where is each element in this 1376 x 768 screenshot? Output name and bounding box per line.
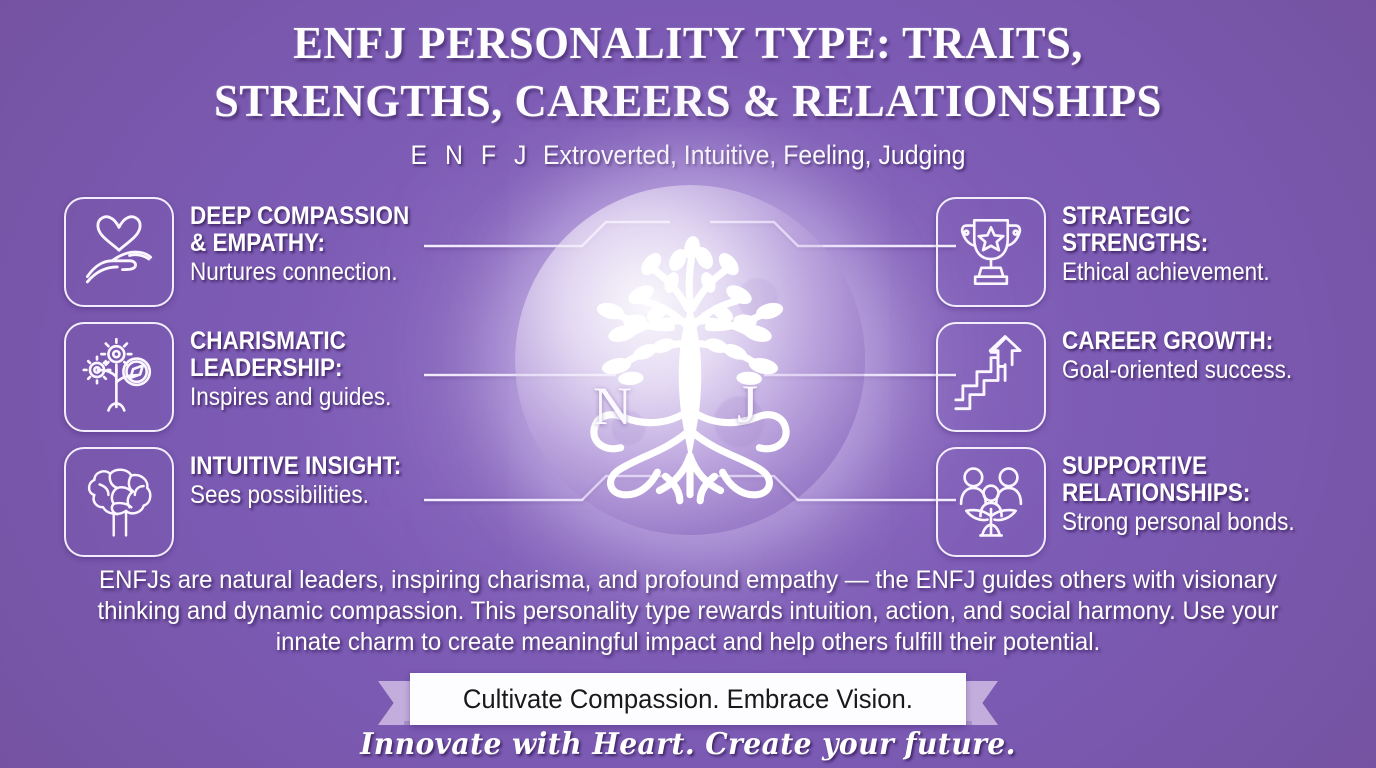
feature-career-growth[interactable]: CAREER GROWTH: Goal-oriented success.	[936, 322, 1318, 432]
feature-description: Goal-oriented success.	[1062, 356, 1292, 385]
type-expansion: Extroverted, Intuitive, Feeling, Judging	[543, 140, 966, 170]
brain-tree-icon	[64, 447, 174, 557]
gears-compass-tree-icon	[64, 322, 174, 432]
feature-description: Inspires and guides.	[190, 383, 391, 412]
tagline: Innovate with Heart. Create your future.	[41, 727, 1334, 762]
feature-heading: CHARISMATIC LEADERSHIP:	[190, 328, 391, 382]
ribbon-text: Cultivate Compassion. Embrace Vision.	[463, 684, 913, 715]
feature-heading: STRATEGIC STRENGTHS:	[1062, 203, 1270, 257]
page-title-line-1: ENFJ PERSONALITY TYPE: TRAITS,	[21, 14, 1356, 72]
feature-charismatic-leadership[interactable]: CHARISMATIC LEADERSHIP: Inspires and gui…	[64, 322, 414, 432]
feature-supportive-relationships[interactable]: SUPPORTIVE RELATIONSHIPS: Strong persona…	[936, 447, 1321, 557]
tree-of-life-icon	[537, 207, 843, 513]
family-tree-people-icon	[936, 447, 1046, 557]
feature-strategic-strengths[interactable]: STRATEGIC STRENGTHS: Ethical achievement…	[936, 197, 1293, 307]
emblem-letter-j: J	[737, 373, 758, 435]
subtitle: E N F JExtroverted, Intuitive, Feeling, …	[55, 138, 1321, 172]
trophy-star-icon	[936, 197, 1046, 307]
feature-heading: SUPPORTIVE RELATIONSHIPS:	[1062, 453, 1295, 507]
enfj-infographic-poster: ENFJ PERSONALITY TYPE: TRAITS, STRENGTHS…	[0, 0, 1376, 768]
feature-description: Nurtures connection.	[190, 258, 409, 287]
feature-intuitive-insight[interactable]: INTUITIVE INSIGHT: Sees possibilities.	[64, 447, 425, 557]
page-title-line-2: STRENGTHS, CAREERS & RELATIONSHIPS	[21, 72, 1356, 130]
center-emblem: N J	[515, 185, 865, 535]
page-title: ENFJ PERSONALITY TYPE: TRAITS, STRENGTHS…	[21, 14, 1356, 130]
feature-deep-compassion[interactable]: DEEP COMPASSION & EMPATHY: Nurtures conn…	[64, 197, 434, 307]
ribbon-banner: Cultivate Compassion. Embrace Vision.	[378, 673, 998, 725]
feature-description: Sees possibilities.	[190, 481, 401, 510]
emblem-letter-n: N	[593, 375, 632, 437]
heart-in-hand-icon	[64, 197, 174, 307]
feature-description: Strong personal bonds.	[1062, 508, 1295, 537]
ribbon-band: Cultivate Compassion. Embrace Vision.	[410, 673, 966, 725]
feature-heading: DEEP COMPASSION & EMPATHY:	[190, 203, 409, 257]
feature-description: Ethical achievement.	[1062, 258, 1270, 287]
feature-heading: INTUITIVE INSIGHT:	[190, 453, 401, 480]
feature-heading: CAREER GROWTH:	[1062, 328, 1292, 355]
summary-paragraph: ENFJs are natural leaders, inspiring cha…	[81, 565, 1294, 658]
type-code: E N F J	[410, 140, 531, 170]
stairs-arrow-icon	[936, 322, 1046, 432]
